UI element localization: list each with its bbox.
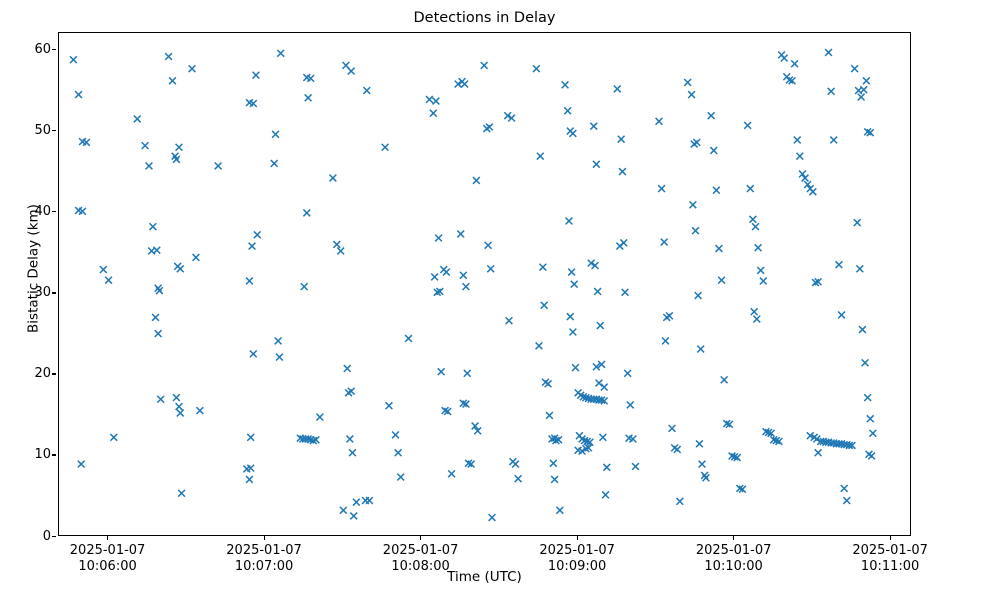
data-point bbox=[815, 449, 822, 456]
data-point bbox=[794, 137, 801, 144]
data-point bbox=[546, 412, 553, 419]
data-point bbox=[699, 461, 706, 468]
data-point bbox=[247, 434, 254, 441]
data-point bbox=[718, 277, 725, 284]
data-point bbox=[537, 153, 544, 160]
data-point bbox=[481, 62, 488, 69]
data-point bbox=[869, 430, 876, 437]
data-point bbox=[713, 187, 720, 194]
data-point bbox=[215, 162, 222, 169]
x-tick-date: 2025-01-07 bbox=[179, 543, 349, 559]
data-point bbox=[749, 216, 756, 223]
data-point bbox=[856, 265, 863, 272]
data-point bbox=[662, 338, 669, 345]
data-point bbox=[562, 81, 569, 88]
x-tick-date: 2025-01-07 bbox=[492, 543, 662, 559]
page-title: Detections in Delay bbox=[58, 9, 911, 27]
data-point bbox=[533, 65, 540, 72]
data-point bbox=[337, 248, 344, 255]
data-point bbox=[571, 281, 578, 288]
data-point bbox=[461, 81, 468, 88]
data-point bbox=[590, 123, 597, 130]
y-axis-tick-label: 60 bbox=[5, 43, 51, 56]
x-axis-tick-mark bbox=[577, 536, 578, 540]
data-point bbox=[486, 124, 493, 131]
data-point bbox=[363, 87, 370, 94]
data-point bbox=[868, 453, 875, 460]
data-point bbox=[506, 317, 513, 324]
data-point bbox=[697, 346, 704, 353]
data-point bbox=[622, 289, 629, 296]
data-point bbox=[157, 396, 164, 403]
data-point bbox=[134, 115, 141, 122]
data-point bbox=[353, 499, 360, 506]
data-point bbox=[688, 91, 695, 98]
data-point bbox=[809, 188, 816, 195]
y-axis-tick-mark bbox=[52, 454, 56, 455]
data-point bbox=[755, 244, 762, 251]
data-point bbox=[753, 316, 760, 323]
y-axis-tick-label: 0 bbox=[5, 530, 51, 543]
data-point bbox=[155, 330, 162, 337]
data-point bbox=[596, 380, 603, 387]
x-tick-date: 2025-01-07 bbox=[23, 543, 193, 559]
data-point bbox=[620, 239, 627, 246]
data-point bbox=[618, 136, 625, 143]
data-point bbox=[366, 497, 373, 504]
data-point bbox=[666, 312, 673, 319]
x-axis-tick-mark bbox=[420, 536, 421, 540]
data-point bbox=[601, 384, 608, 391]
data-point bbox=[658, 185, 665, 192]
data-point bbox=[176, 144, 183, 151]
data-point bbox=[250, 350, 257, 357]
data-point bbox=[426, 96, 433, 103]
data-point bbox=[448, 470, 455, 477]
data-point bbox=[674, 446, 681, 453]
data-point bbox=[329, 175, 336, 182]
data-point bbox=[348, 68, 355, 75]
data-point bbox=[382, 144, 389, 151]
data-point bbox=[301, 283, 308, 290]
data-point bbox=[386, 402, 393, 409]
plot-area bbox=[58, 32, 911, 536]
scatter-series bbox=[59, 33, 911, 536]
y-axis-tick-mark bbox=[52, 130, 56, 131]
data-point bbox=[189, 65, 196, 72]
data-point bbox=[567, 313, 574, 320]
data-point bbox=[752, 223, 759, 230]
data-point bbox=[747, 185, 754, 192]
x-axis-tick-mark bbox=[890, 536, 891, 540]
data-point bbox=[757, 267, 764, 274]
data-point bbox=[193, 254, 200, 261]
data-point bbox=[864, 394, 871, 401]
data-point bbox=[838, 312, 845, 319]
data-point bbox=[708, 112, 715, 119]
data-point bbox=[177, 265, 184, 272]
data-point bbox=[619, 168, 626, 175]
data-point bbox=[515, 475, 522, 482]
data-point bbox=[473, 177, 480, 184]
data-point bbox=[271, 160, 278, 167]
data-point bbox=[156, 287, 163, 294]
data-point bbox=[254, 231, 261, 238]
x-axis-tick-mark bbox=[733, 536, 734, 540]
data-point bbox=[843, 497, 850, 504]
data-point bbox=[716, 245, 723, 252]
data-point bbox=[142, 142, 149, 149]
x-axis-tick-mark bbox=[107, 536, 108, 540]
data-point bbox=[105, 277, 112, 284]
data-point bbox=[551, 476, 558, 483]
data-point bbox=[153, 247, 160, 254]
data-point bbox=[178, 490, 185, 497]
data-point bbox=[851, 65, 858, 72]
data-point bbox=[564, 107, 571, 114]
data-point bbox=[438, 368, 445, 375]
data-point bbox=[152, 314, 159, 321]
data-point bbox=[100, 266, 107, 273]
data-point bbox=[696, 440, 703, 447]
data-point bbox=[703, 474, 710, 481]
x-axis-tick-mark bbox=[264, 536, 265, 540]
data-point bbox=[463, 283, 470, 290]
data-point bbox=[751, 308, 758, 315]
data-point bbox=[485, 242, 492, 249]
data-point bbox=[487, 265, 494, 272]
data-point bbox=[275, 338, 282, 345]
data-point bbox=[676, 498, 683, 505]
data-point bbox=[572, 364, 579, 371]
data-point bbox=[539, 264, 546, 271]
data-point bbox=[345, 389, 352, 396]
y-axis-tick-mark bbox=[52, 373, 56, 374]
data-point bbox=[661, 239, 668, 246]
data-point bbox=[669, 425, 676, 432]
data-point bbox=[276, 354, 283, 361]
data-point bbox=[346, 436, 353, 443]
data-point bbox=[830, 137, 837, 144]
data-point bbox=[545, 380, 552, 387]
data-point bbox=[435, 235, 442, 242]
data-point bbox=[405, 335, 412, 342]
data-point bbox=[272, 131, 279, 138]
data-point bbox=[760, 278, 767, 285]
data-point bbox=[841, 485, 848, 492]
data-point bbox=[825, 49, 832, 56]
data-point bbox=[344, 365, 351, 372]
data-point bbox=[110, 434, 117, 441]
data-point bbox=[556, 507, 563, 514]
data-point bbox=[395, 449, 402, 456]
data-point bbox=[603, 464, 610, 471]
data-point bbox=[316, 414, 323, 421]
data-point bbox=[689, 201, 696, 208]
data-point bbox=[569, 329, 576, 336]
data-point bbox=[146, 162, 153, 169]
data-point bbox=[744, 122, 751, 129]
data-point bbox=[433, 98, 440, 105]
data-point bbox=[594, 288, 601, 295]
data-point bbox=[860, 86, 867, 93]
data-point bbox=[512, 461, 519, 468]
y-axis-title-wrap: Bistatic Delay (km) bbox=[0, 0, 1, 1]
data-point bbox=[165, 53, 172, 60]
data-point bbox=[656, 118, 663, 125]
data-point bbox=[176, 403, 183, 410]
data-point bbox=[392, 432, 399, 439]
x-tick-date: 2025-01-07 bbox=[336, 543, 506, 559]
data-point bbox=[78, 461, 85, 468]
x-tick-date: 2025-01-07 bbox=[649, 543, 819, 559]
data-point bbox=[340, 507, 347, 514]
data-point bbox=[599, 434, 606, 441]
data-point bbox=[692, 227, 699, 234]
data-point bbox=[597, 322, 604, 329]
y-axis-tick-mark bbox=[52, 49, 56, 50]
data-point bbox=[536, 342, 543, 349]
data-point bbox=[632, 463, 639, 470]
data-point bbox=[303, 209, 310, 216]
data-point bbox=[246, 278, 253, 285]
data-point bbox=[464, 370, 471, 377]
y-axis-tick-label: 10 bbox=[5, 448, 51, 461]
data-point bbox=[460, 272, 467, 279]
data-point bbox=[614, 86, 621, 93]
data-point bbox=[173, 394, 180, 401]
data-point bbox=[75, 91, 82, 98]
data-point bbox=[550, 460, 557, 467]
data-point bbox=[70, 56, 77, 63]
data-point bbox=[249, 243, 256, 250]
y-axis-tick-mark bbox=[52, 536, 56, 537]
y-axis-tick-mark bbox=[52, 211, 56, 212]
data-point bbox=[541, 302, 548, 309]
y-axis-title: Bistatic Delay (km) bbox=[27, 129, 42, 409]
data-point bbox=[349, 449, 356, 456]
data-point bbox=[684, 79, 691, 86]
data-point bbox=[624, 370, 631, 377]
data-point bbox=[791, 60, 798, 67]
data-point bbox=[443, 269, 450, 276]
data-point bbox=[862, 359, 869, 366]
data-point bbox=[781, 55, 788, 62]
data-point bbox=[867, 415, 874, 422]
data-point bbox=[397, 474, 404, 481]
figure-canvas: Detections in Delay 0102030405060 2025-0… bbox=[0, 0, 989, 590]
x-axis-title: Time (UTC) bbox=[58, 570, 911, 585]
data-point bbox=[858, 94, 865, 101]
data-point bbox=[569, 130, 576, 137]
data-point bbox=[602, 491, 609, 498]
data-point bbox=[177, 410, 184, 417]
data-point bbox=[568, 269, 575, 276]
data-point bbox=[863, 77, 870, 84]
data-point bbox=[431, 273, 438, 280]
data-point bbox=[796, 153, 803, 160]
data-point bbox=[253, 72, 260, 79]
data-point bbox=[721, 376, 728, 383]
data-point bbox=[169, 77, 176, 84]
data-point bbox=[695, 292, 702, 299]
data-point bbox=[246, 476, 253, 483]
data-point bbox=[566, 218, 573, 225]
data-point bbox=[150, 223, 157, 230]
data-point bbox=[457, 231, 464, 238]
data-point bbox=[593, 161, 600, 168]
data-point bbox=[859, 326, 866, 333]
data-point bbox=[333, 241, 340, 248]
x-tick-date: 2025-01-07 bbox=[805, 543, 975, 559]
data-point bbox=[489, 514, 496, 521]
data-point bbox=[710, 147, 717, 154]
data-point bbox=[828, 88, 835, 95]
data-point bbox=[693, 139, 700, 146]
data-point bbox=[854, 219, 861, 226]
data-point bbox=[277, 50, 284, 57]
data-point bbox=[836, 261, 843, 268]
data-point bbox=[350, 513, 357, 520]
data-point bbox=[196, 407, 203, 414]
data-point bbox=[305, 94, 312, 101]
data-point bbox=[627, 402, 634, 409]
data-point bbox=[430, 110, 437, 117]
y-axis-tick-mark bbox=[52, 292, 56, 293]
